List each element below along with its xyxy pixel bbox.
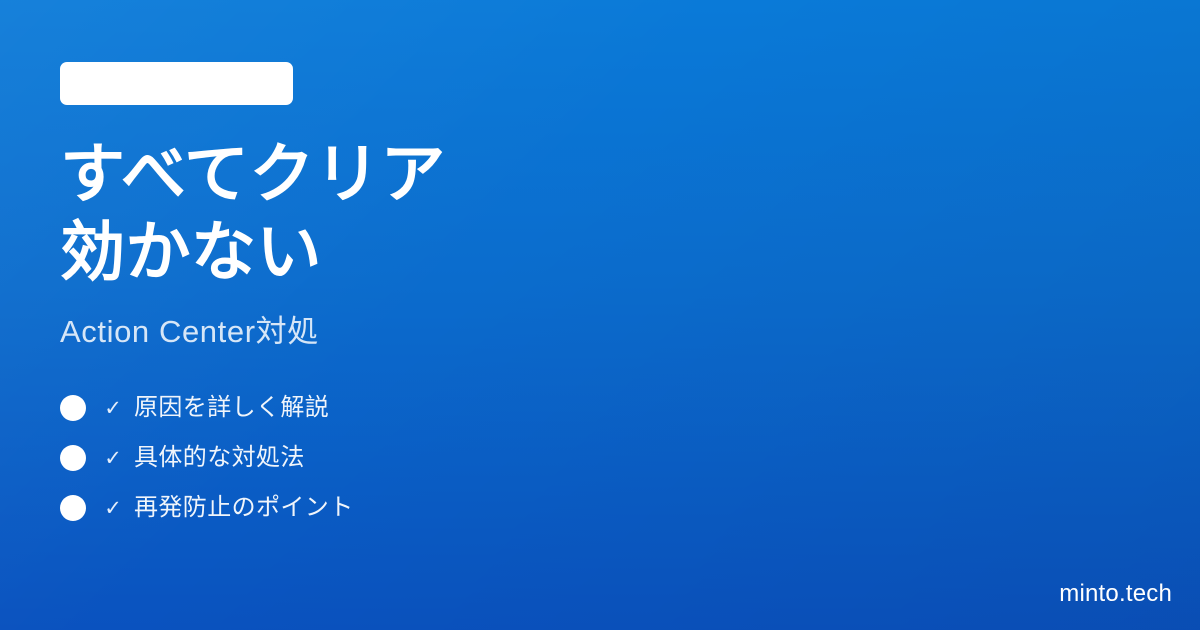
page-title-line-1: すべてクリア	[60, 135, 1200, 213]
page-subtitle: Action Center対処	[60, 313, 1200, 351]
check-icon: ✓	[102, 448, 124, 469]
bullet-dot-icon	[60, 445, 86, 471]
feature-list: ✓ 原因を詳しく解説 ✓ 具体的な対処法 ✓ 再発防止のポイント	[60, 383, 1200, 533]
list-item: ✓ 再発防止のポイント	[60, 483, 1200, 533]
promo-card: すべてクリア 効かない Action Center対処 ✓ 原因を詳しく解説 ✓…	[0, 0, 1200, 630]
bullet-dot-icon	[60, 395, 86, 421]
bullet-dot-icon	[60, 495, 86, 521]
feature-label: 具体的な対処法	[134, 444, 305, 472]
feature-label: 原因を詳しく解説	[134, 394, 329, 422]
site-watermark: minto.tech	[1059, 580, 1172, 608]
check-icon: ✓	[102, 498, 124, 519]
page-title: すべてクリア 効かない	[60, 135, 1200, 291]
page-title-line-2: 効かない	[60, 213, 1200, 291]
feature-label: 再発防止のポイント	[134, 494, 354, 522]
card-content: すべてクリア 効かない Action Center対処 ✓ 原因を詳しく解説 ✓…	[0, 0, 1200, 533]
list-item: ✓ 具体的な対処法	[60, 433, 1200, 483]
list-item: ✓ 原因を詳しく解説	[60, 383, 1200, 433]
check-icon: ✓	[102, 398, 124, 419]
category-badge	[60, 62, 293, 105]
